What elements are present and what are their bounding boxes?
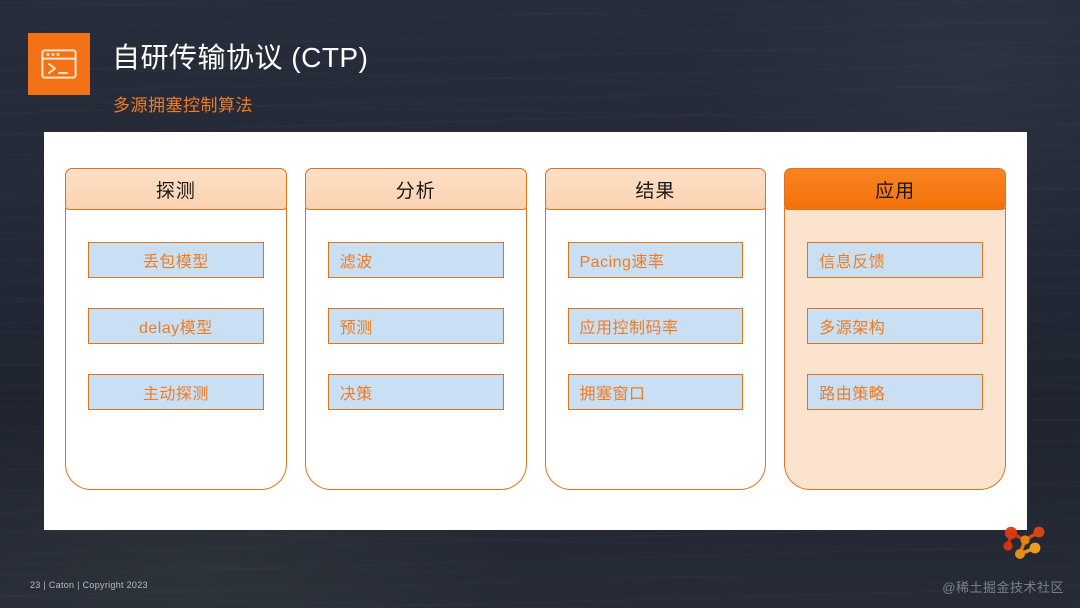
- content-panel: 探测 丢包模型 delay模型 主动探测 分析 滤波 预测 决策 结果: [44, 132, 1027, 530]
- pipeline-column-analyze[interactable]: 分析 滤波 预测 决策: [305, 168, 527, 490]
- column-header-analyze: 分析: [305, 168, 527, 210]
- slide-header: 自研传输协议 (CTP) 多源拥塞控制算法: [0, 0, 1080, 132]
- pipeline-column-apply[interactable]: 应用 信息反馈 多源架构 路由策略: [784, 168, 1006, 490]
- column-body-detect: 丢包模型 delay模型 主动探测: [65, 208, 287, 490]
- page-title: 自研传输协议 (CTP): [112, 40, 368, 76]
- item-analyze-1[interactable]: 预测: [328, 308, 504, 344]
- column-body-apply: 信息反馈 多源架构 路由策略: [784, 208, 1006, 490]
- item-detect-0[interactable]: 丢包模型: [88, 242, 264, 278]
- column-header-result: 结果: [545, 168, 767, 210]
- item-result-1[interactable]: 应用控制码率: [568, 308, 744, 344]
- item-apply-0[interactable]: 信息反馈: [807, 242, 983, 278]
- pipeline-columns: 探测 丢包模型 delay模型 主动探测 分析 滤波 预测 决策 结果: [65, 168, 1006, 490]
- pipeline-column-detect[interactable]: 探测 丢包模型 delay模型 主动探测: [65, 168, 287, 490]
- item-detect-2[interactable]: 主动探测: [88, 374, 264, 410]
- item-analyze-2[interactable]: 决策: [328, 374, 504, 410]
- column-header-apply: 应用: [784, 168, 1006, 210]
- item-result-2[interactable]: 拥塞窗口: [568, 374, 744, 410]
- footer-credit: 23 | Caton | Copyright 2023: [30, 580, 148, 590]
- slide-canvas: 自研传输协议 (CTP) 多源拥塞控制算法 探测 丢包模型 delay模型 主动…: [0, 0, 1080, 608]
- terminal-window-icon: [28, 33, 90, 95]
- item-detect-1[interactable]: delay模型: [88, 308, 264, 344]
- item-result-0[interactable]: Pacing速率: [568, 242, 744, 278]
- pipeline-column-result[interactable]: 结果 Pacing速率 应用控制码率 拥塞窗口: [545, 168, 767, 490]
- item-apply-1[interactable]: 多源架构: [807, 308, 983, 344]
- page-subtitle: 多源拥塞控制算法: [113, 95, 253, 117]
- watermark-text: @稀土掘金技术社区: [942, 577, 1064, 596]
- item-apply-2[interactable]: 路由策略: [807, 374, 983, 410]
- column-body-analyze: 滤波 预测 决策: [305, 208, 527, 490]
- molecule-nodes-logo: [998, 522, 1054, 570]
- item-analyze-0[interactable]: 滤波: [328, 242, 504, 278]
- column-header-detect: 探测: [65, 168, 287, 210]
- column-body-result: Pacing速率 应用控制码率 拥塞窗口: [545, 208, 767, 490]
